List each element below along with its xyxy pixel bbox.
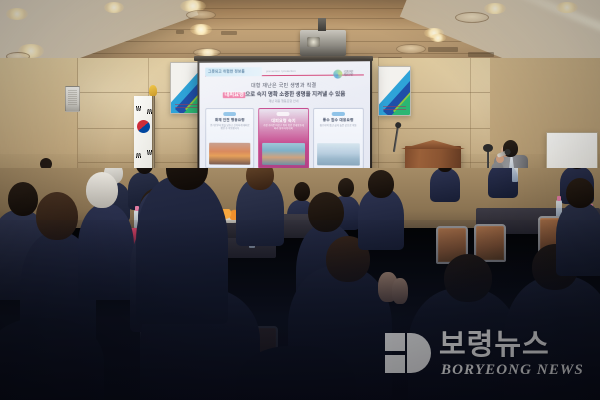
watermark: 보령뉴스 BORYEONG NEWS (385, 330, 585, 386)
slide-card-3: 풍수 침수 대응요령 침수지역 접근 금지 높은 곳으로 이동 (313, 108, 364, 170)
ceiling-light (430, 34, 446, 42)
slide-surface: 그릇되고 위험한 정보를 prevention / protection 국민안… (199, 61, 370, 174)
slide-card-1: 화재 안전 행동요령 연기로부터 몸을 낮추고 신속하게 대피로 확인 후 이동… (205, 108, 254, 169)
slide-subtitle: 재난 대응 행동요령 안내 (199, 99, 370, 103)
card-image-city (262, 143, 304, 165)
card-image-fire (209, 143, 250, 165)
banner-right (378, 66, 411, 116)
slide-header: 그릇되고 위험한 정보를 prevention / protection 국민안… (205, 66, 364, 76)
slide-title-rest: 으로 숙지 명확 소중한 생명을 지켜낼 수 있음 (245, 92, 345, 98)
flag-finial (149, 85, 157, 96)
card-desc: 침수지역 접근 금지 높은 곳으로 이동 (317, 124, 360, 127)
ceiling-light (104, 2, 124, 13)
card-desc: 연기로부터 몸을 낮추고 신속하게 대피로 확인 후 이동합니다 (209, 124, 250, 131)
slide-title-line1: 대형 재난은 국민 생명과 직결 (199, 81, 370, 89)
attendee-head (8, 182, 38, 216)
slide-title-line2: 대피요령으로 숙지 명확 소중한 생명을 지켜낼 수 있음 (199, 90, 370, 99)
slide-header-sub: prevention / protection (266, 69, 296, 73)
card-image-flood (317, 143, 360, 165)
attendee-head (368, 170, 394, 198)
attendee-head (294, 182, 310, 201)
water-bottle (512, 168, 518, 182)
attendee-head (338, 178, 354, 197)
attendee-head (86, 172, 118, 208)
projection-screen: 그릇되고 위험한 정보를 prevention / protection 국민안… (197, 59, 372, 176)
ceiling-vent (176, 30, 184, 34)
wall-speaker (65, 86, 80, 112)
slide-title-highlight: 대피요령 (223, 92, 245, 98)
photo-scene: 그릇되고 위험한 정보를 prevention / protection 국민안… (0, 0, 600, 400)
slide-logo-line2: 재난안전 (343, 74, 353, 78)
boryeong-news-logo-icon (385, 333, 431, 373)
ceiling-light (484, 3, 506, 14)
watermark-korean: 보령뉴스 (439, 330, 550, 360)
card-desc: 가장 가까운 비상구 위치 확인 안내방송에 따라 침착하게 대피 (262, 124, 304, 131)
ceiling-light-ring (455, 12, 489, 23)
attendee-head (566, 178, 594, 208)
ceiling-light (190, 24, 212, 35)
ceiling-projector (300, 30, 346, 56)
whiteboard (546, 132, 598, 172)
card-badge (223, 112, 236, 116)
slide-card-2: 대피요령 숙지 가장 가까운 비상구 위치 확인 안내방송에 따라 침착하게 대… (258, 108, 308, 169)
card-title: 화재 안전 행동요령 (208, 118, 251, 123)
ceiling-light-ring (186, 10, 216, 20)
slide-logo: 국민안전 재난안전 (333, 69, 359, 78)
ceiling-light (556, 2, 578, 13)
ceiling-vent (221, 31, 237, 35)
card-title: 풍수 침수 대응요령 (316, 118, 361, 123)
ceiling-vent (468, 52, 494, 57)
slide-cards: 화재 안전 행동요령 연기로부터 몸을 낮추고 신속하게 대피로 확인 후 이동… (205, 108, 364, 170)
ceiling-light-ring (396, 44, 426, 54)
card-badge (332, 112, 345, 116)
attendee-torso (430, 168, 460, 202)
watermark-english: BORYEONG NEWS (441, 362, 584, 379)
ceiling-vent (428, 47, 458, 52)
south-korea-flag (134, 96, 154, 168)
ceiling-light (6, 8, 28, 20)
slide-header-tag: 그릇되고 위험한 정보를 (208, 69, 245, 74)
card-badge (277, 112, 290, 116)
